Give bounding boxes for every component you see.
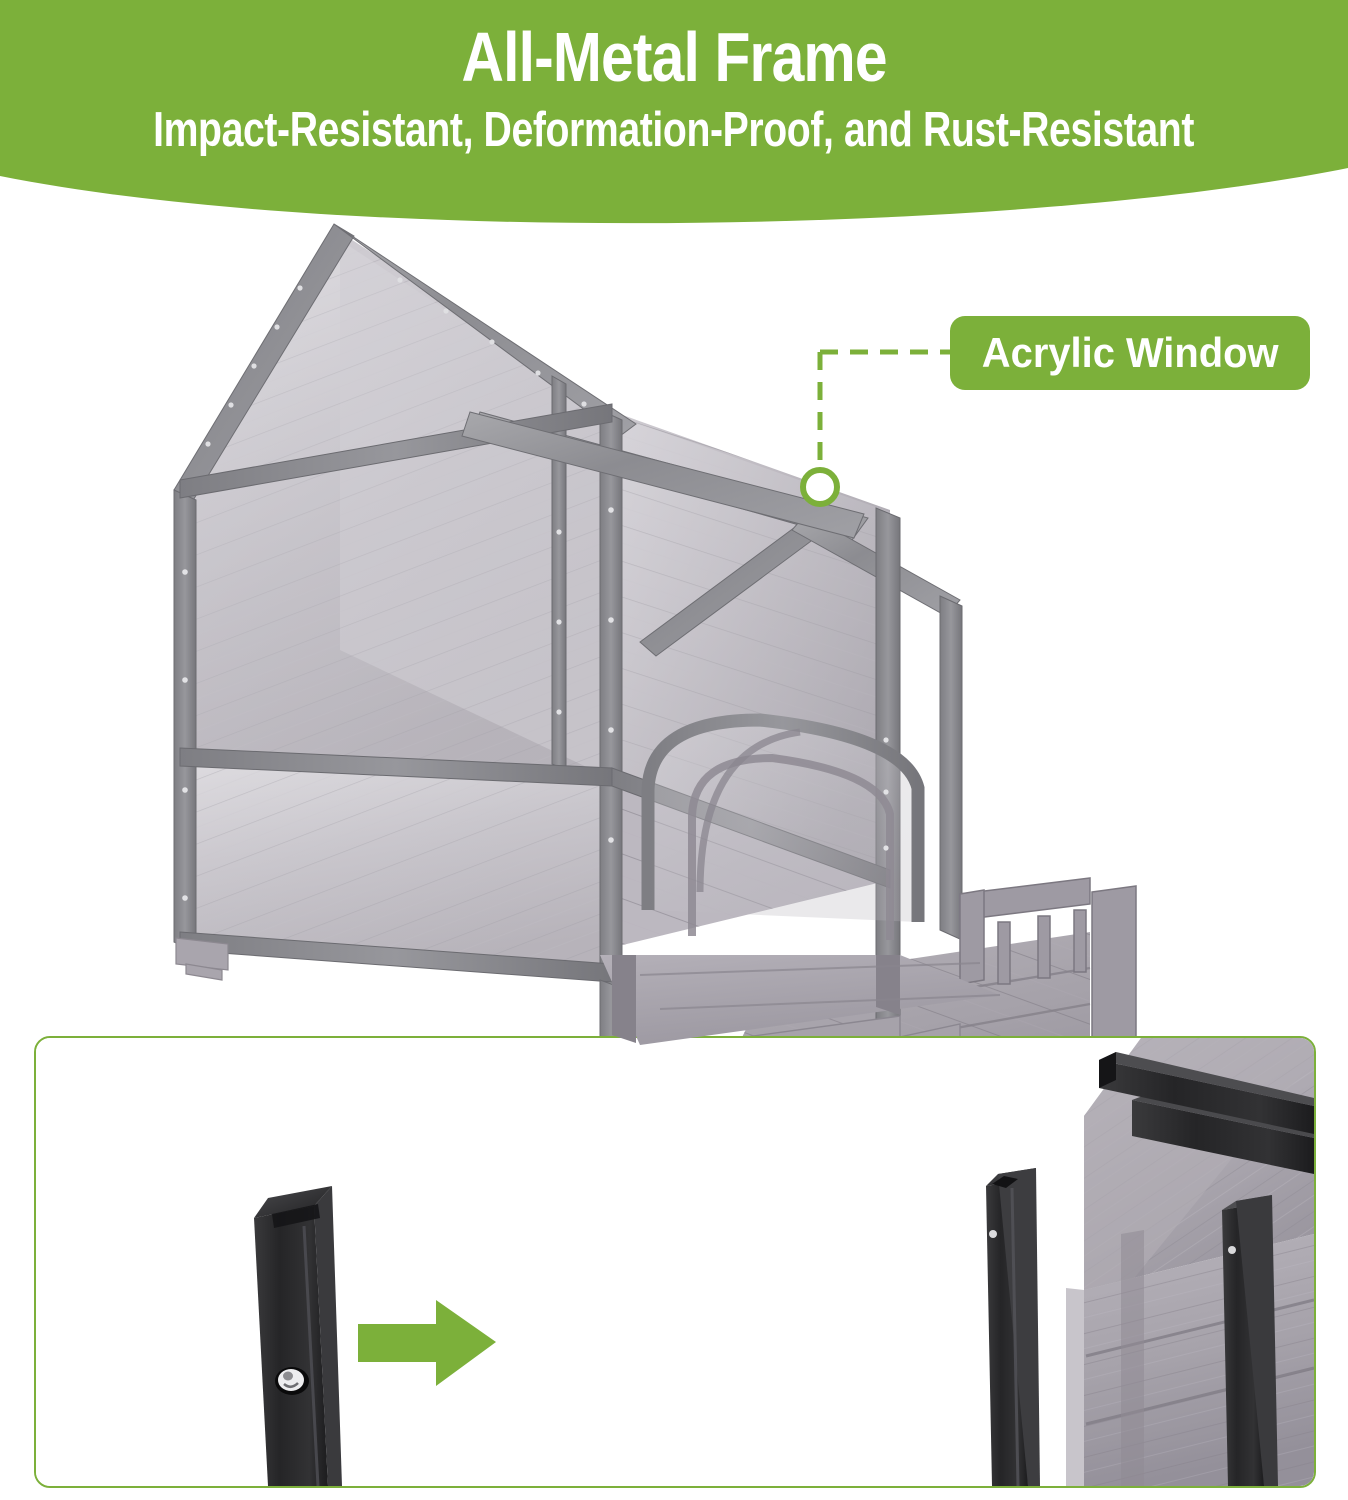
acrylic-window-callout-badge[interactable]: Acrylic Window (950, 316, 1310, 390)
loose-post-with-screw (254, 1186, 342, 1486)
header-banner: All-Metal Frame Impact-Resistant, Deform… (0, 0, 1348, 230)
page-title: All-Metal Frame (461, 22, 886, 92)
metal-post-detail-panel (34, 1036, 1316, 1488)
infographic-page: Acrylic Window All-Metal Frame Impact-Re… (0, 0, 1348, 1500)
target-post (986, 1168, 1040, 1486)
hero-product-image (0, 180, 1348, 1040)
screw-head-icon (275, 1367, 309, 1395)
inserted-post-right (1222, 1195, 1278, 1486)
page-subtitle: Impact-Resistant, Deformation-Proof, and… (154, 106, 1195, 155)
callout-label: Acrylic Window (982, 329, 1279, 377)
